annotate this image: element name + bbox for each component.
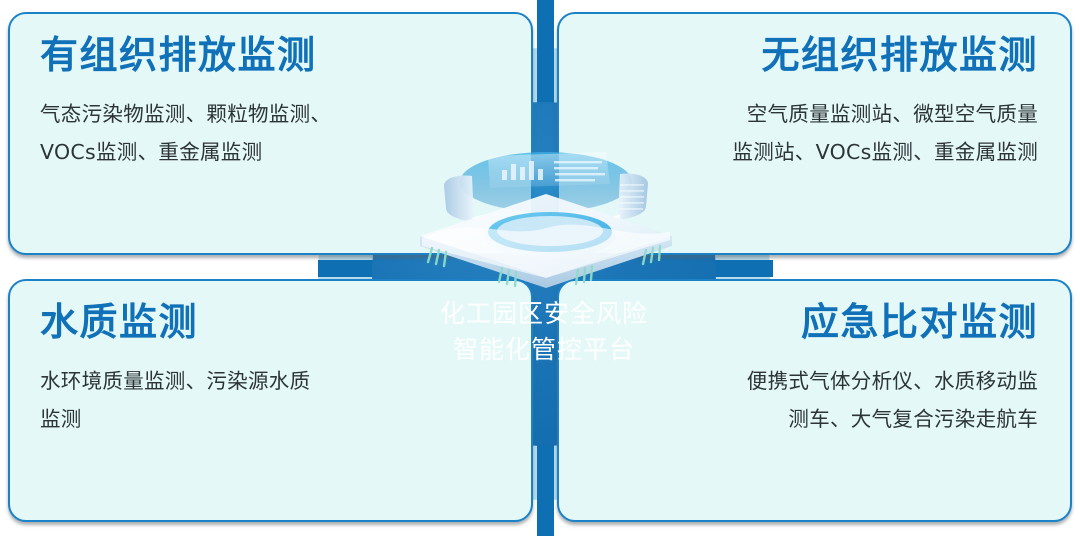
card-description-line: VOCs监测、重金属监测	[40, 134, 331, 172]
card-description: 便携式气体分析仪、水质移动监 测车、大气复合污染走航车	[747, 363, 1038, 439]
infographic-root: 化工园区安全风险 智能化管控平台 有组织排放监测 气态污染物监测、颗粒物监测、 …	[0, 0, 1080, 536]
card-title: 无组织排放监测	[761, 34, 1038, 78]
card-emergency-comparison-monitoring[interactable]: 应急比对监测 便携式气体分析仪、水质移动监 测车、大气复合污染走航车	[557, 279, 1072, 522]
card-description-line: 气态污染物监测、颗粒物监测、	[40, 96, 331, 134]
card-description: 水环境质量监测、污染源水质 监测	[40, 363, 310, 439]
card-description-line: 空气质量监测站、微型空气质量	[732, 96, 1038, 134]
isometric-platform-illustration	[410, 128, 682, 288]
card-content: 水质监测 水环境质量监测、污染源水质 监测	[10, 281, 531, 520]
card-description-line: 测车、大气复合污染走航车	[747, 401, 1038, 439]
card-title: 水质监测	[40, 301, 198, 345]
card-title: 有组织排放监测	[40, 34, 317, 78]
card-title: 应急比对监测	[801, 301, 1038, 345]
card-description-line: 监测站、VOCs监测、重金属监测	[732, 134, 1038, 172]
card-water-quality-monitoring[interactable]: 水质监测 水环境质量监测、污染源水质 监测	[8, 279, 533, 522]
card-description: 气态污染物监测、颗粒物监测、 VOCs监测、重金属监测	[40, 96, 331, 172]
card-description: 空气质量监测站、微型空气质量 监测站、VOCs监测、重金属监测	[732, 96, 1038, 172]
card-description-line: 便携式气体分析仪、水质移动监	[747, 363, 1038, 401]
card-description-line: 水环境质量监测、污染源水质	[40, 363, 310, 401]
card-content: 应急比对监测 便携式气体分析仪、水质移动监 测车、大气复合污染走航车	[559, 281, 1070, 520]
card-description-line: 监测	[40, 401, 310, 439]
